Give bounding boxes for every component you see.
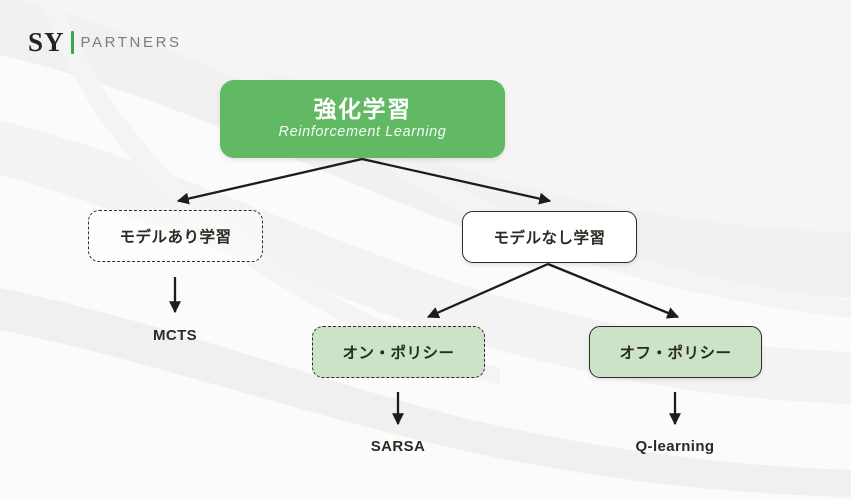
edge-root-to-model-based	[178, 159, 362, 201]
logo-divider	[71, 31, 74, 54]
diagram-canvas: SY PARTNERS 強化学習 Reinforcement Learning …	[0, 0, 851, 500]
logo-name: PARTNERS	[81, 35, 182, 50]
node-model-free[interactable]: モデルなし学習	[462, 211, 637, 263]
edge-model-free-to-off	[548, 264, 678, 317]
edge-model-free-to-on	[428, 264, 548, 317]
node-root-title-jp: 強化学習	[314, 97, 412, 122]
node-root-title-en: Reinforcement Learning	[279, 125, 447, 141]
node-off-policy[interactable]: オフ・ポリシー	[589, 326, 762, 378]
edge-root-to-model-free	[362, 159, 550, 201]
logo-mark: SY	[28, 29, 65, 56]
brand-logo: SY PARTNERS	[28, 26, 182, 58]
node-on-policy[interactable]: オン・ポリシー	[312, 326, 485, 378]
node-model-based[interactable]: モデルあり学習	[88, 210, 263, 262]
node-reinforcement-learning[interactable]: 強化学習 Reinforcement Learning	[220, 80, 505, 158]
node-sarsa: SARSA	[333, 438, 463, 455]
node-q-learning: Q-learning	[610, 438, 740, 455]
node-off-policy-label: オフ・ポリシー	[619, 341, 731, 363]
node-model-based-label: モデルあり学習	[119, 225, 231, 247]
node-on-policy-label: オン・ポリシー	[342, 341, 454, 363]
node-mcts: MCTS	[110, 327, 240, 344]
node-model-free-label: モデルなし学習	[493, 226, 605, 248]
